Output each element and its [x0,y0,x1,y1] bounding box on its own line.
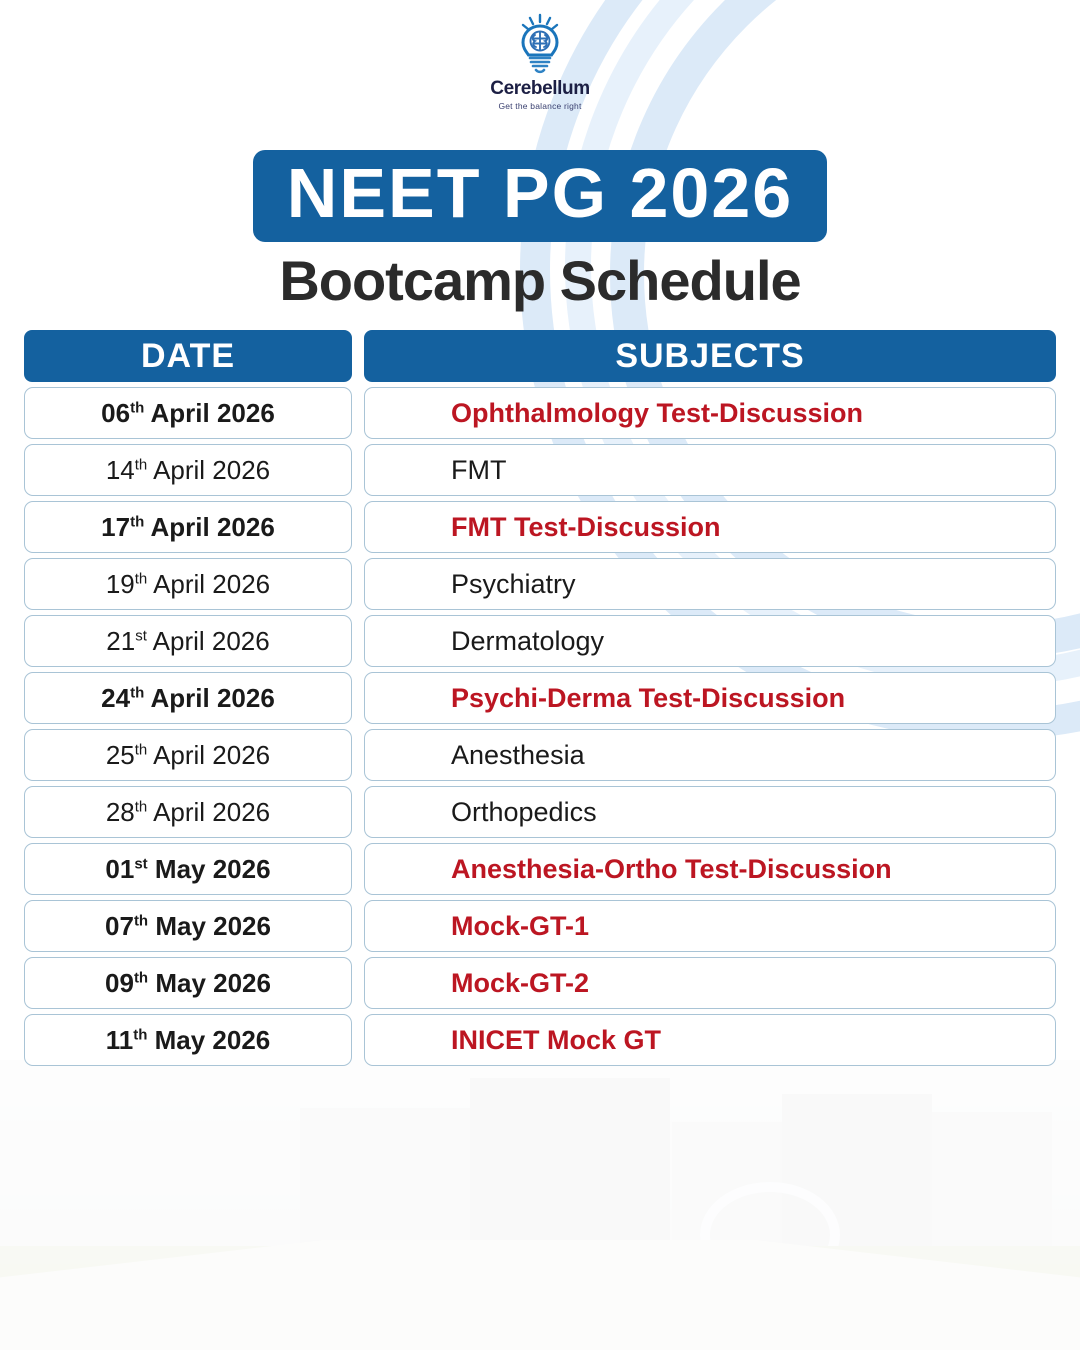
headline-block: NEET PG 2026 Bootcamp Schedule [0,150,1080,311]
subject-value: Anesthesia-Ortho Test-Discussion [451,854,892,885]
date-month-year: May 2026 [148,854,271,884]
subject-value: Ophthalmology Test-Discussion [451,398,863,429]
header-cell-date: DATE [24,330,352,382]
cell-subject: Anesthesia-Ortho Test-Discussion [364,843,1056,895]
cell-date: 07th May 2026 [24,900,352,952]
watermark-building [932,1112,1052,1268]
date-value: 06th April 2026 [101,398,275,429]
subject-value: Anesthesia [451,740,585,771]
cell-date: 17th April 2026 [24,501,352,553]
table-row: 25th April 2026Anesthesia [24,729,1056,781]
table-row: 11th May 2026INICET Mock GT [24,1014,1056,1066]
date-month-year: May 2026 [148,911,271,941]
lightbulb-brain-icon [508,12,572,76]
watermark-fountain-jet [700,1182,840,1288]
table-row: 06th April 2026Ophthalmology Test-Discus… [24,387,1056,439]
campus-photo-watermark [0,1060,1080,1350]
cell-subject: Ophthalmology Test-Discussion [364,387,1056,439]
subject-value: Dermatology [451,626,604,657]
cell-date: 19th April 2026 [24,558,352,610]
date-value: 28th April 2026 [106,797,270,828]
cell-date: 01st May 2026 [24,843,352,895]
date-month-year: April 2026 [144,398,275,428]
date-month-year: April 2026 [147,455,270,485]
date-ordinal: th [130,399,144,416]
date-month-year: May 2026 [147,1025,270,1055]
cell-subject: FMT Test-Discussion [364,501,1056,553]
watermark-lawn [0,1246,1080,1318]
date-value: 07th May 2026 [105,911,271,942]
watermark-building [470,1078,670,1268]
date-value: 24th April 2026 [101,683,275,714]
subject-value: Mock-GT-1 [451,911,589,942]
date-ordinal: th [135,798,148,815]
date-month-year: April 2026 [147,740,270,770]
date-ordinal: th [135,570,148,587]
watermark-pathway [0,1240,1080,1350]
page-subtitle: Bootcamp Schedule [279,252,800,311]
date-ordinal: th [135,456,148,473]
cell-date: 28th April 2026 [24,786,352,838]
title-banner: NEET PG 2026 [253,150,827,242]
watermark-building [672,1122,782,1268]
date-ordinal: th [133,1026,147,1043]
date-month-year: April 2026 [144,683,275,713]
date-value: 14th April 2026 [106,455,270,486]
cell-subject: Psychi-Derma Test-Discussion [364,672,1056,724]
date-month-year: April 2026 [144,512,275,542]
brand-name: Cerebellum [490,78,589,100]
subject-value: FMT [451,455,506,486]
cell-subject: Mock-GT-2 [364,957,1056,1009]
subject-value: INICET Mock GT [451,1025,661,1056]
cell-subject: Psychiatry [364,558,1056,610]
date-value: 11th May 2026 [106,1025,271,1056]
subject-value: Psychi-Derma Test-Discussion [451,683,845,714]
date-value: 21st April 2026 [106,626,269,657]
subject-value: FMT Test-Discussion [451,512,721,543]
cell-date: 11th May 2026 [24,1014,352,1066]
date-month-year: April 2026 [147,626,270,656]
date-value: 09th May 2026 [105,968,271,999]
subject-value: Psychiatry [451,569,576,600]
table-row: 07th May 2026Mock-GT-1 [24,900,1056,952]
table-row: 09th May 2026Mock-GT-2 [24,957,1056,1009]
table-row: 28th April 2026Orthopedics [24,786,1056,838]
table-row: 17th April 2026FMT Test-Discussion [24,501,1056,553]
page-title: NEET PG 2026 [287,158,793,228]
brand-logo: Cerebellum Get the balance right [0,12,1080,111]
cell-subject: Dermatology [364,615,1056,667]
table-row: 01st May 2026Anesthesia-Ortho Test-Discu… [24,843,1056,895]
cell-date: 14th April 2026 [24,444,352,496]
cell-subject: FMT [364,444,1056,496]
cell-date: 09th May 2026 [24,957,352,1009]
watermark-fountain-base [722,1250,800,1280]
date-ordinal: th [134,912,148,929]
date-ordinal: th [134,969,148,986]
date-value: 17th April 2026 [101,512,275,543]
cell-subject: Anesthesia [364,729,1056,781]
subject-value: Mock-GT-2 [451,968,589,999]
cell-date: 21st April 2026 [24,615,352,667]
table-row: 14th April 2026FMT [24,444,1056,496]
table-row: 19th April 2026Psychiatry [24,558,1056,610]
date-ordinal: th [130,513,144,530]
date-value: 25th April 2026 [106,740,270,771]
cell-subject: Mock-GT-1 [364,900,1056,952]
watermark-building [782,1094,932,1268]
date-ordinal: st [134,855,147,872]
date-month-year: May 2026 [148,968,271,998]
header-cell-subjects: SUBJECTS [364,330,1056,382]
cell-date: 06th April 2026 [24,387,352,439]
date-month-year: April 2026 [147,569,270,599]
column-header-date: DATE [141,337,235,376]
brand-tagline: Get the balance right [498,101,581,111]
date-ordinal: th [130,684,144,701]
date-month-year: April 2026 [147,797,270,827]
watermark-sky [0,1060,1080,1265]
date-value: 19th April 2026 [106,569,270,600]
schedule-table: DATE SUBJECTS 06th April 2026Ophthalmolo… [24,330,1056,1071]
date-value: 01st May 2026 [105,854,270,885]
table-header-row: DATE SUBJECTS [24,330,1056,382]
cell-date: 24th April 2026 [24,672,352,724]
cell-subject: Orthopedics [364,786,1056,838]
table-row: 24th April 2026Psychi-Derma Test-Discuss… [24,672,1056,724]
column-header-subjects: SUBJECTS [615,337,804,376]
neet-pg-bootcamp-schedule-poster: Cerebellum Get the balance right NEET PG… [0,0,1080,1350]
cell-subject: INICET Mock GT [364,1014,1056,1066]
cell-date: 25th April 2026 [24,729,352,781]
date-ordinal: th [135,741,148,758]
table-row: 21st April 2026Dermatology [24,615,1056,667]
watermark-building [300,1108,470,1268]
subject-value: Orthopedics [451,797,597,828]
date-ordinal: st [135,627,147,644]
